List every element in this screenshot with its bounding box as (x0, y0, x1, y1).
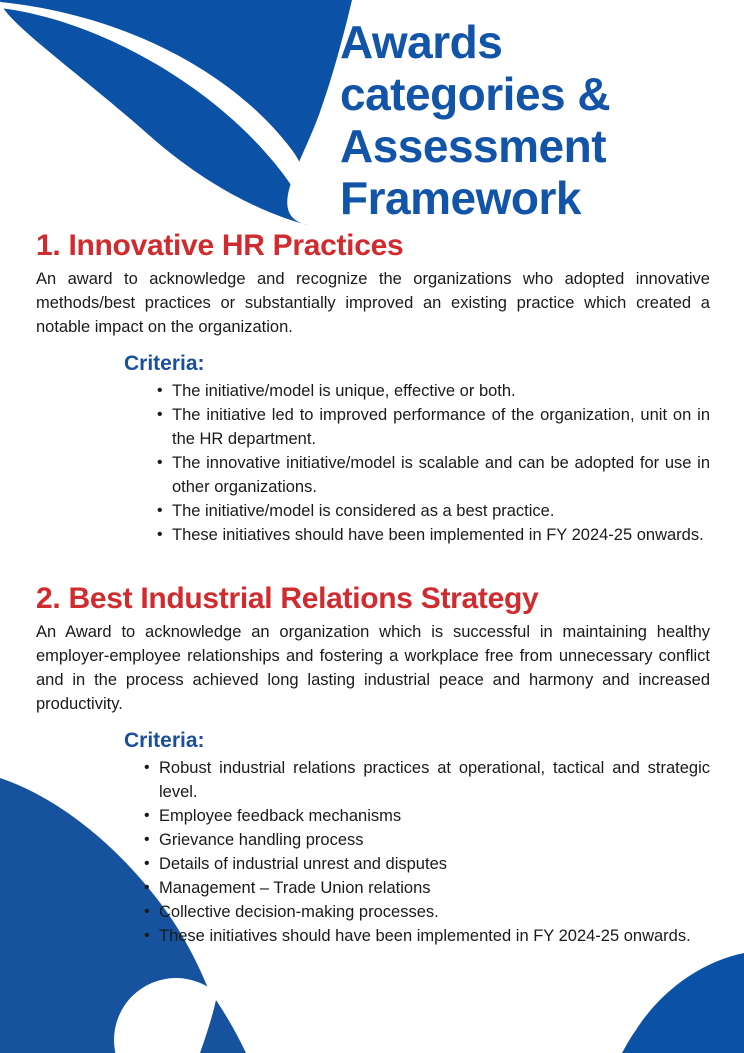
list-item: These initiatives should have been imple… (144, 924, 710, 948)
list-item: The initiative/model is considered as a … (157, 499, 710, 523)
section-2-heading: 2. Best Industrial Relations Strategy (36, 581, 710, 617)
list-item: Employee feedback mechanisms (144, 804, 710, 828)
list-item: The initiative led to improved performan… (157, 403, 710, 451)
list-item: Details of industrial unrest and dispute… (144, 852, 710, 876)
list-item: Collective decision-making processes. (144, 900, 710, 924)
section-1-description: An award to acknowledge and recognize th… (36, 267, 710, 339)
list-item: Management – Trade Union relations (144, 876, 710, 900)
poster-page: Awards categories & Assessment Framework… (0, 0, 744, 1053)
section-2-description: An Award to acknowledge an organization … (36, 620, 710, 716)
page-title: Awards categories & Assessment Framework (340, 16, 730, 224)
bottom-right-blue-arc (622, 953, 744, 1053)
title-line-3: Assessment (340, 120, 730, 172)
title-line-4: Framework (340, 172, 730, 224)
section-1-criteria-list: The initiative/model is unique, effectiv… (124, 379, 710, 547)
title-line-2: categories & (340, 68, 730, 120)
list-item: Grievance handling process (144, 828, 710, 852)
bottom-left-white-circle (114, 978, 238, 1053)
list-item: The initiative/model is unique, effectiv… (157, 379, 710, 403)
title-line-1: Awards (340, 16, 730, 68)
list-item: The innovative initiative/model is scala… (157, 451, 710, 499)
section-2-criteria-list: Robust industrial relations practices at… (124, 756, 710, 948)
section-2-criteria-block: Criteria: Robust industrial relations pr… (36, 728, 710, 948)
award-section-1: 1. Innovative HR Practices An award to a… (0, 228, 744, 547)
section-1-criteria-block: Criteria: The initiative/model is unique… (36, 351, 710, 547)
award-section-2: 2. Best Industrial Relations Strategy An… (0, 581, 744, 948)
list-item: These initiatives should have been imple… (157, 523, 710, 547)
top-left-blue-swoosh (0, 0, 352, 226)
bottom-left-blue-sliver (200, 1000, 246, 1053)
document-content: 1. Innovative HR Practices An award to a… (0, 228, 744, 948)
section-1-heading: 1. Innovative HR Practices (36, 228, 710, 264)
section-2-criteria-label: Criteria: (124, 728, 710, 754)
top-left-white-carve (0, 2, 313, 226)
list-item: Robust industrial relations practices at… (144, 756, 710, 804)
section-1-criteria-label: Criteria: (124, 351, 710, 377)
top-left-corner-white (0, 4, 313, 226)
